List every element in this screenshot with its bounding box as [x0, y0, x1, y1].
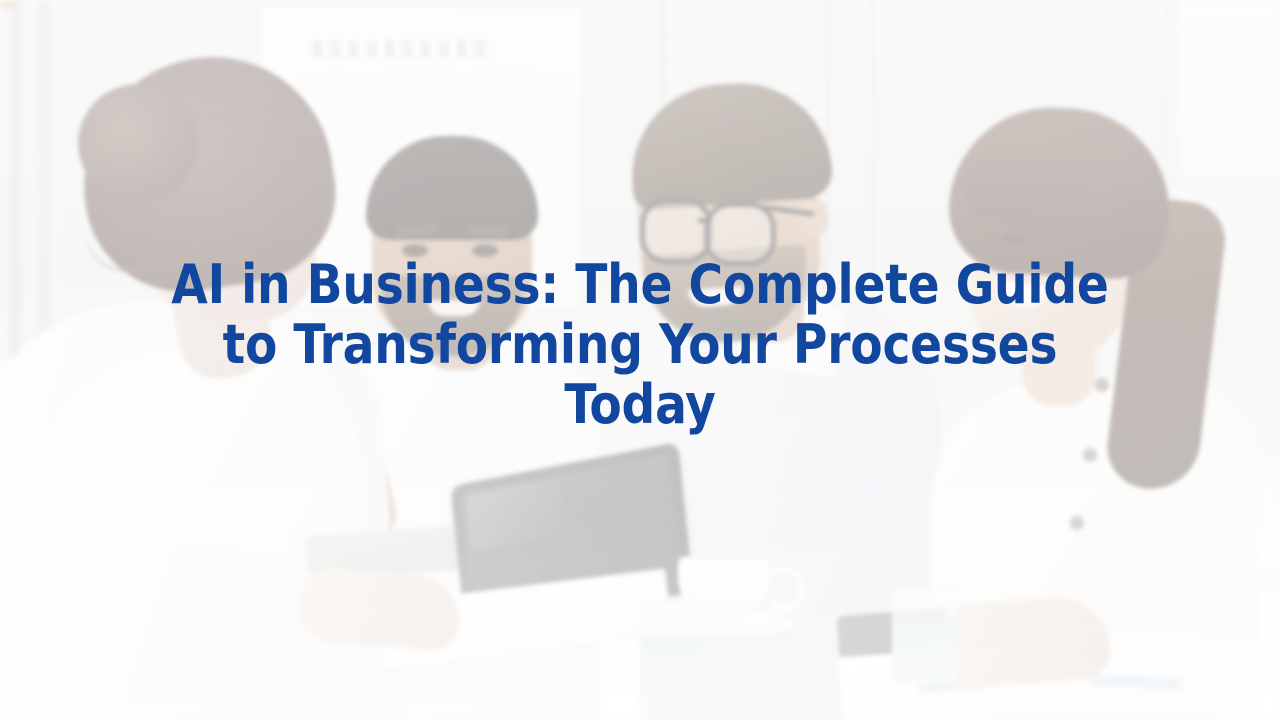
- person-man-glasses-ear: [800, 198, 828, 238]
- whiteboard-diagram-box: [300, 72, 346, 90]
- eyeglasses-bridge: [698, 218, 712, 223]
- whiteboard-heading-scribble: [312, 40, 494, 58]
- whiteboard-connector-line: [448, 84, 480, 85]
- cardigan-button: [1070, 516, 1084, 530]
- water-glass-center: [640, 600, 704, 696]
- ring-icon: [0, 0, 16, 10]
- water-glass-contents: [641, 635, 703, 691]
- page-title: AI in Business: The Complete Guide to Tr…: [150, 255, 1130, 435]
- title-container: AI in Business: The Complete Guide to Tr…: [0, 255, 1280, 435]
- hero-banner: AI in Business: The Complete Guide to Tr…: [0, 0, 1280, 720]
- whiteboard-connector-line: [344, 86, 392, 87]
- water-glass-right: [892, 586, 960, 684]
- water-glass-contents: [893, 617, 959, 679]
- whiteboard-diagram-box: [390, 66, 450, 90]
- cardigan-button: [1083, 448, 1097, 462]
- whiteboard-diagram-box: [478, 70, 532, 98]
